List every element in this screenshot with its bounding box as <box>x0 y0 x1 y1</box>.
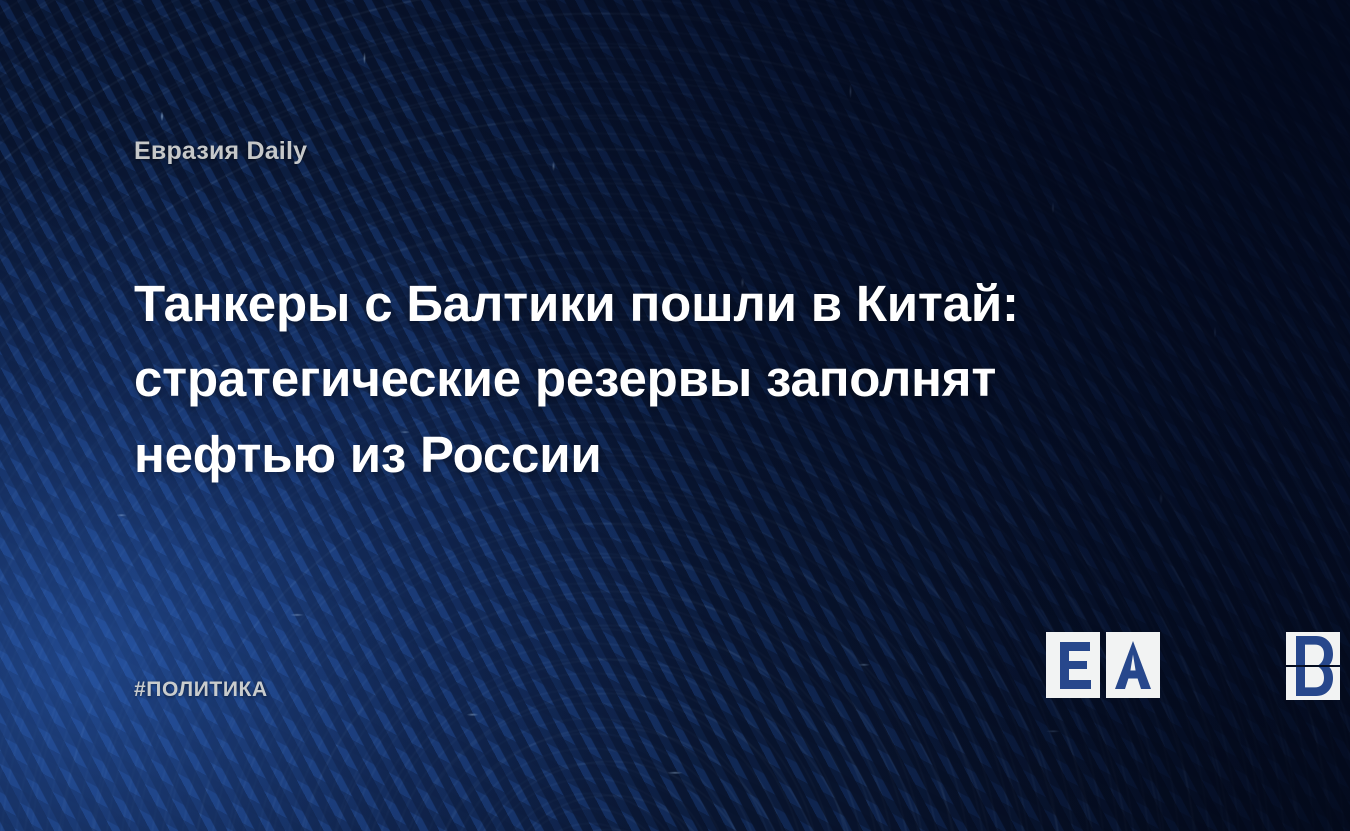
card-content: Евразия Daily Танкеры с Балтики пошли в … <box>0 0 1350 831</box>
headline: Танкеры с Балтики пошли в Китай: стратег… <box>134 266 1114 492</box>
eadaily-logo[interactable] <box>1046 632 1222 702</box>
brand-name: Евразия Daily <box>134 137 307 166</box>
logo-letter-a-tile <box>1106 632 1160 698</box>
news-card: Евразия Daily Танкеры с Балтики пошли в … <box>0 0 1350 831</box>
logo-letter-e-icon <box>1046 632 1100 698</box>
logo-letter-e-tile <box>1046 632 1100 698</box>
logo-letter-d-top-tile <box>1286 632 1340 665</box>
category-tag[interactable]: #ПОЛИТИКА <box>134 678 268 702</box>
logo-letter-d-bottom-tile <box>1286 667 1340 700</box>
logo-letter-d-group <box>1166 632 1220 700</box>
logo-letter-d-top-icon <box>1286 632 1340 665</box>
logo-letter-d-bottom-icon <box>1286 667 1340 700</box>
logo-letter-a-icon <box>1106 632 1160 698</box>
